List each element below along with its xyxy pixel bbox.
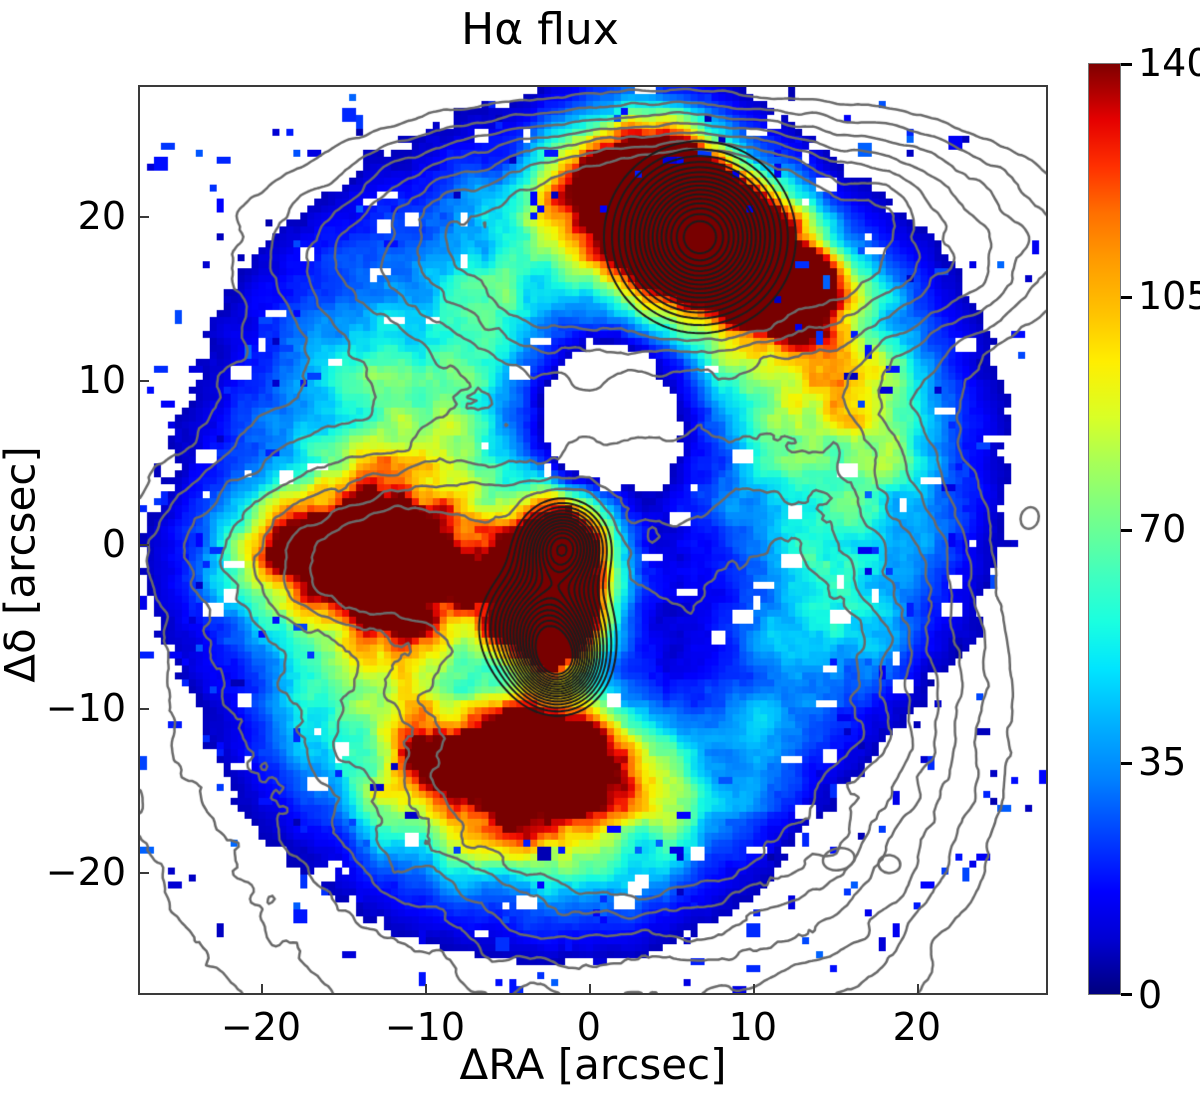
figure-root: Hα flux ΔRA [arcsec] Δδ [arcsec] 1401057… [0,0,1200,1100]
y-tick-2 [138,544,149,546]
chart-title: Hα flux [0,4,1080,55]
x-tick-3 [753,984,755,995]
y-tick-0 [138,216,149,218]
x-tick-label-4: 20 [893,1005,941,1049]
y-tick-4 [138,872,149,874]
molecular-gas-contours [140,87,1046,993]
colorbar-tick-label-4: 0 [1138,973,1162,1017]
colorbar-tick-label-0: 140 [1138,41,1200,85]
y-tick-1 [138,380,149,382]
x-tick-label-3: 10 [729,1005,777,1049]
x-tick-label-2: 0 [577,1005,601,1049]
y-tick-label-1: 10 [0,358,126,402]
plot-area [138,85,1048,995]
colorbar: 14010570350 [1088,63,1121,995]
title-text: Hα flux [461,4,619,55]
y-tick-3 [138,708,149,710]
x-tick-label-0: −20 [221,1005,301,1049]
x-tick-2 [589,984,591,995]
colorbar-tick-0 [1121,63,1132,66]
x-tick-4 [917,984,919,995]
colorbar-tick-1 [1121,296,1132,299]
colorbar-tick-label-3: 35 [1138,740,1186,784]
y-tick-label-3: −10 [0,686,126,730]
colorbar-tick-4 [1121,993,1132,996]
y-tick-label-2: 0 [0,522,126,566]
colorbar-tick-label-1: 105 [1138,274,1200,318]
y-tick-label-4: −20 [0,850,126,894]
colorbar-tick-label-2: 70 [1138,507,1186,551]
x-tick-0 [261,984,263,995]
x-tick-1 [425,984,427,995]
colorbar-tick-2 [1121,529,1132,532]
x-tick-label-1: −10 [385,1005,465,1049]
colorbar-gradient [1088,63,1121,995]
y-tick-label-0: 20 [0,194,126,238]
colorbar-tick-3 [1121,762,1132,765]
